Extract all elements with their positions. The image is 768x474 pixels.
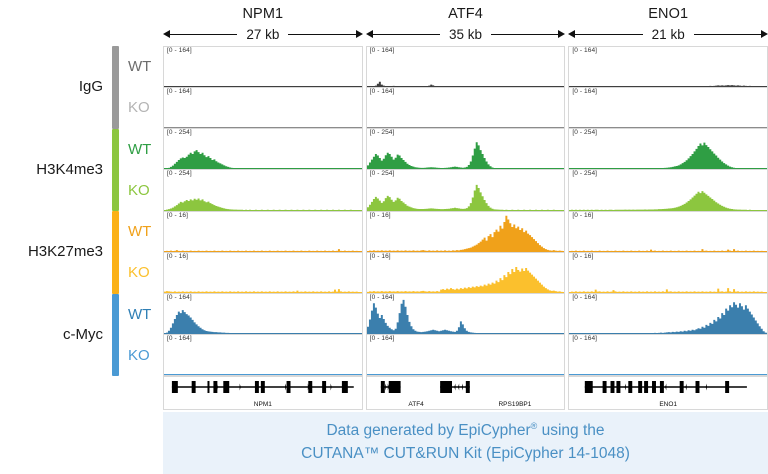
track-baseline bbox=[164, 292, 362, 293]
condition-label-wt: WT bbox=[128, 224, 163, 239]
condition-label-ko: KO bbox=[128, 348, 163, 363]
track-cmyc-ko-atf4[interactable]: [0 - 164] bbox=[366, 334, 566, 376]
attribution-banner: Data generated by EpiCypher® using the C… bbox=[163, 412, 768, 474]
track-signal-area bbox=[569, 47, 767, 87]
track-scale-label: [0 - 16] bbox=[572, 254, 593, 261]
track-igg-wt-eno1[interactable]: [0 - 164] bbox=[568, 46, 768, 87]
gene-model-labels: NPM1 bbox=[164, 402, 362, 409]
track-baseline bbox=[569, 210, 767, 211]
track-h3k4me3-ko-eno1[interactable]: [0 - 254] bbox=[568, 169, 768, 210]
track-h3k27me3-ko-npm1[interactable]: [0 - 16] bbox=[163, 252, 363, 293]
track-igg-ko-npm1[interactable]: [0 - 164] bbox=[163, 87, 363, 128]
track-signal-area bbox=[164, 47, 362, 87]
track-cmyc-wt-eno1[interactable]: [0 - 164] bbox=[568, 293, 768, 334]
gene-model-labels: ATF4RPS19BP1 bbox=[367, 402, 565, 409]
track-scale-label: [0 - 16] bbox=[370, 254, 391, 261]
track-signal-area bbox=[367, 170, 565, 210]
track-signal-area bbox=[367, 335, 565, 375]
span-arrow-left-icon bbox=[366, 30, 444, 39]
track-signal-area bbox=[367, 212, 565, 252]
track-scale-label: [0 - 164] bbox=[167, 48, 192, 55]
track-h3k4me3-wt-eno1[interactable]: [0 - 254] bbox=[568, 128, 768, 169]
track-baseline bbox=[569, 86, 767, 87]
column-header-npm1: NPM127 kb bbox=[163, 0, 363, 44]
track-scale-label: [0 - 164] bbox=[370, 295, 395, 302]
track-scale-label: [0 - 254] bbox=[370, 171, 395, 178]
attribution-text-pre: Data generated by EpiCypher bbox=[326, 423, 530, 440]
mark-group-h3k4me3: H3K4me3WTKO bbox=[0, 129, 163, 212]
span-arrow-left-icon bbox=[163, 30, 241, 39]
track-signal-area bbox=[367, 253, 565, 293]
track-signal-area bbox=[164, 170, 362, 210]
track-h3k4me3-ko-npm1[interactable]: [0 - 254] bbox=[163, 169, 363, 210]
track-baseline bbox=[164, 210, 362, 211]
track-column-npm1: [0 - 164][0 - 164][0 - 254][0 - 254][0 -… bbox=[163, 46, 363, 376]
gene-label: ATF4 bbox=[367, 402, 466, 409]
condition-label-ko: KO bbox=[128, 265, 163, 280]
track-igg-ko-atf4[interactable]: [0 - 164] bbox=[366, 87, 566, 128]
track-scale-label: [0 - 164] bbox=[167, 89, 192, 96]
track-h3k4me3-ko-atf4[interactable]: [0 - 254] bbox=[366, 169, 566, 210]
track-h3k27me3-ko-atf4[interactable]: [0 - 16] bbox=[366, 252, 566, 293]
track-scale-label: [0 - 164] bbox=[370, 89, 395, 96]
column-gene-name: ATF4 bbox=[448, 0, 483, 22]
column-span-ruler: 35 kb bbox=[366, 22, 566, 42]
column-header-atf4: ATF435 kb bbox=[366, 0, 566, 44]
track-baseline bbox=[569, 292, 767, 293]
column-span-ruler: 27 kb bbox=[163, 22, 363, 42]
track-column-eno1: [0 - 164][0 - 164][0 - 254][0 - 254][0 -… bbox=[568, 46, 768, 376]
mark-color-bar bbox=[112, 46, 119, 129]
track-signal-area bbox=[164, 212, 362, 252]
mark-group-c-myc: c-MycWTKO bbox=[0, 294, 163, 377]
track-scale-label: [0 - 164] bbox=[370, 336, 395, 343]
track-baseline bbox=[569, 333, 767, 334]
track-signal-area bbox=[164, 88, 362, 128]
track-baseline bbox=[367, 168, 565, 169]
track-scale-label: [0 - 164] bbox=[167, 336, 192, 343]
mark-name-label: c-Myc bbox=[0, 327, 112, 344]
mark-group-h3k27me3: H3K27me3WTKO bbox=[0, 211, 163, 294]
condition-label-wt: WT bbox=[128, 142, 163, 157]
track-signal-area bbox=[367, 294, 565, 334]
track-signal-area bbox=[367, 88, 565, 128]
column-gene-name: ENO1 bbox=[648, 0, 688, 22]
track-baseline bbox=[367, 374, 565, 375]
track-signal-area bbox=[367, 47, 565, 87]
track-scale-label: [0 - 16] bbox=[370, 213, 391, 220]
attribution-text-post: using the bbox=[537, 423, 604, 440]
column-span-ruler: 21 kb bbox=[568, 22, 768, 42]
track-scale-label: [0 - 254] bbox=[370, 130, 395, 137]
track-signal-area bbox=[569, 294, 767, 334]
track-scale-label: [0 - 254] bbox=[167, 130, 192, 137]
track-h3k27me3-wt-atf4[interactable]: [0 - 16] bbox=[366, 211, 566, 252]
span-arrow-right-icon bbox=[487, 30, 565, 39]
track-signal-area bbox=[164, 129, 362, 169]
track-baseline bbox=[367, 86, 565, 87]
track-baseline bbox=[569, 374, 767, 375]
gene-label: RPS19BP1 bbox=[466, 402, 565, 409]
track-scale-label: [0 - 164] bbox=[572, 48, 597, 55]
track-cmyc-ko-npm1[interactable]: [0 - 164] bbox=[163, 334, 363, 376]
condition-label-wt: WT bbox=[128, 59, 163, 74]
mark-color-bar bbox=[112, 211, 119, 294]
gene-model-eno1[interactable]: ENO1 bbox=[568, 376, 768, 410]
attribution-line-2: CUTANA™ CUT&RUN Kit (EpiCypher 14-1048) bbox=[301, 443, 630, 465]
track-baseline bbox=[569, 168, 767, 169]
track-scale-label: [0 - 254] bbox=[572, 130, 597, 137]
track-scale-label: [0 - 16] bbox=[167, 213, 188, 220]
condition-labels: WTKO bbox=[119, 129, 163, 212]
span-arrow-right-icon bbox=[690, 30, 768, 39]
condition-labels: WTKO bbox=[119, 294, 163, 377]
gene-model-atf4[interactable]: ATF4RPS19BP1 bbox=[366, 376, 566, 410]
mark-name-label: IgG bbox=[0, 79, 112, 96]
track-scale-label: [0 - 164] bbox=[370, 48, 395, 55]
gene-model-npm1[interactable]: NPM1 bbox=[163, 376, 363, 410]
track-scale-label: [0 - 164] bbox=[572, 295, 597, 302]
condition-labels: WTKO bbox=[119, 46, 163, 129]
cutrun-track-figure: NPM127 kbATF435 kbENO121 kb IgGWTKOH3K4m… bbox=[0, 0, 768, 474]
track-baseline bbox=[164, 168, 362, 169]
track-h3k4me3-wt-npm1[interactable]: [0 - 254] bbox=[163, 128, 363, 169]
track-baseline bbox=[164, 374, 362, 375]
mark-label-column: IgGWTKOH3K4me3WTKOH3K27me3WTKOc-MycWTKO bbox=[0, 46, 163, 376]
mark-group-igg: IgGWTKO bbox=[0, 46, 163, 129]
column-span-label: 35 kb bbox=[444, 28, 487, 42]
track-signal-area bbox=[164, 335, 362, 375]
track-h3k27me3-wt-eno1[interactable]: [0 - 16] bbox=[568, 211, 768, 252]
track-signal-area bbox=[367, 129, 565, 169]
track-scale-label: [0 - 164] bbox=[167, 295, 192, 302]
track-baseline bbox=[569, 127, 767, 128]
track-baseline bbox=[164, 127, 362, 128]
condition-label-ko: KO bbox=[128, 100, 163, 115]
track-h3k27me3-ko-eno1[interactable]: [0 - 16] bbox=[568, 252, 768, 293]
column-span-label: 21 kb bbox=[647, 28, 690, 42]
track-h3k27me3-wt-npm1[interactable]: [0 - 16] bbox=[163, 211, 363, 252]
track-signal-area bbox=[164, 294, 362, 334]
track-baseline bbox=[367, 127, 565, 128]
track-baseline bbox=[164, 251, 362, 252]
track-signal-area bbox=[569, 335, 767, 375]
mark-color-bar bbox=[112, 129, 119, 212]
track-igg-ko-eno1[interactable]: [0 - 164] bbox=[568, 87, 768, 128]
track-signal-area bbox=[569, 253, 767, 293]
column-header-eno1: ENO121 kb bbox=[568, 0, 768, 44]
track-scale-label: [0 - 16] bbox=[167, 254, 188, 261]
track-scale-label: [0 - 164] bbox=[572, 336, 597, 343]
span-arrow-right-icon bbox=[284, 30, 362, 39]
gene-model-labels: ENO1 bbox=[569, 402, 767, 409]
span-arrow-left-icon bbox=[568, 30, 646, 39]
track-signal-area bbox=[569, 129, 767, 169]
track-grid: [0 - 164][0 - 164][0 - 254][0 - 254][0 -… bbox=[163, 46, 768, 376]
track-scale-label: [0 - 16] bbox=[572, 213, 593, 220]
attribution-line-1: Data generated by EpiCypher® using the bbox=[326, 420, 604, 443]
track-column-atf4: [0 - 164][0 - 164][0 - 254][0 - 254][0 -… bbox=[366, 46, 566, 376]
track-scale-label: [0 - 254] bbox=[167, 171, 192, 178]
column-span-label: 27 kb bbox=[241, 28, 284, 42]
track-signal-area bbox=[164, 253, 362, 293]
track-igg-wt-atf4[interactable]: [0 - 164] bbox=[366, 46, 566, 87]
column-headers: NPM127 kbATF435 kbENO121 kb bbox=[163, 0, 768, 44]
track-signal-area bbox=[569, 212, 767, 252]
track-scale-label: [0 - 254] bbox=[572, 171, 597, 178]
column-gene-name: NPM1 bbox=[242, 0, 283, 22]
mark-color-bar bbox=[112, 294, 119, 377]
track-cmyc-wt-atf4[interactable]: [0 - 164] bbox=[366, 293, 566, 334]
track-baseline bbox=[367, 210, 565, 211]
mark-name-label: H3K4me3 bbox=[0, 162, 112, 179]
track-baseline bbox=[367, 251, 565, 252]
gene-model-row: NPM1ATF4RPS19BP1ENO1 bbox=[163, 376, 768, 410]
condition-labels: WTKO bbox=[119, 211, 163, 294]
track-h3k4me3-wt-atf4[interactable]: [0 - 254] bbox=[366, 128, 566, 169]
track-cmyc-ko-eno1[interactable]: [0 - 164] bbox=[568, 334, 768, 376]
track-baseline bbox=[164, 333, 362, 334]
track-scale-label: [0 - 164] bbox=[572, 89, 597, 96]
track-signal-area bbox=[569, 170, 767, 210]
condition-label-wt: WT bbox=[128, 307, 163, 322]
track-baseline bbox=[569, 251, 767, 252]
track-baseline bbox=[367, 292, 565, 293]
mark-name-label: H3K27me3 bbox=[0, 244, 112, 261]
track-signal-area bbox=[569, 88, 767, 128]
track-cmyc-wt-npm1[interactable]: [0 - 164] bbox=[163, 293, 363, 334]
track-baseline bbox=[367, 333, 565, 334]
track-baseline bbox=[164, 86, 362, 87]
track-igg-wt-npm1[interactable]: [0 - 164] bbox=[163, 46, 363, 87]
condition-label-ko: KO bbox=[128, 183, 163, 198]
